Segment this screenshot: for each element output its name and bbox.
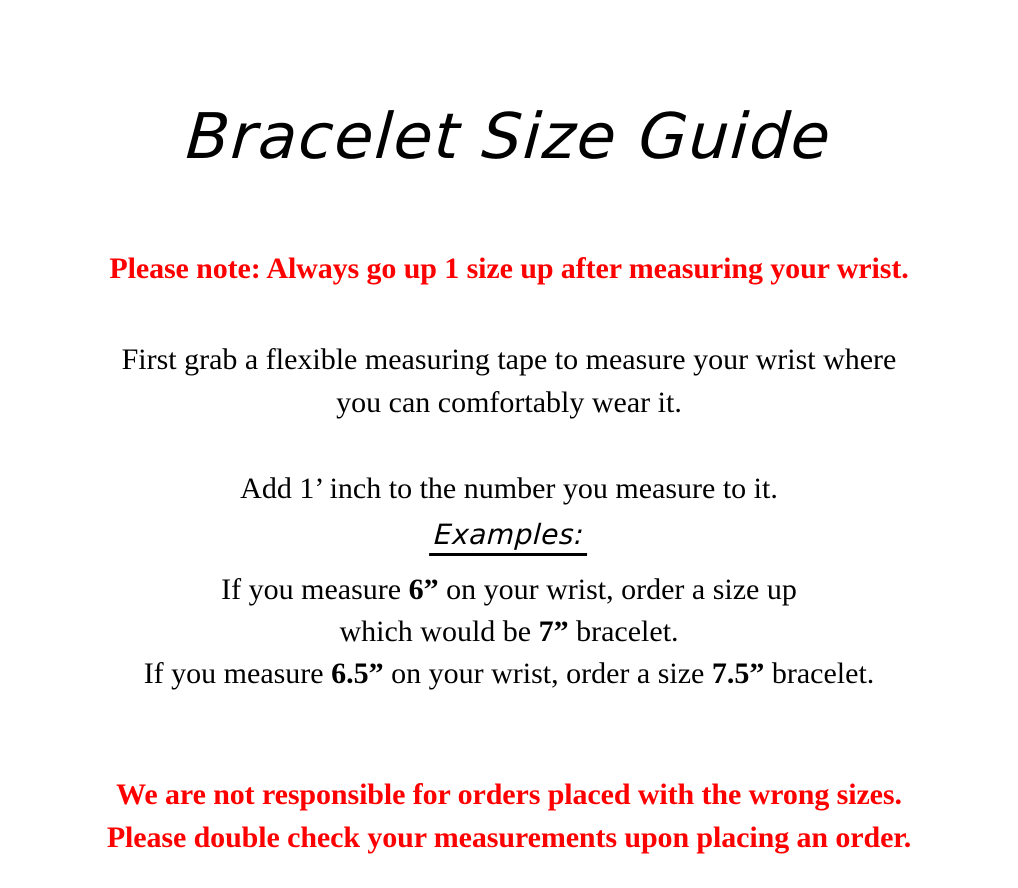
example-line-3-prefix: If you measure	[144, 657, 331, 690]
example-line-3: If you measure 6.5” on your wrist, order…	[0, 653, 1018, 695]
example-line-1-size: 6”	[409, 573, 439, 606]
example-line-3-middle: on your wrist, order a size	[384, 657, 712, 690]
example-line-1-suffix: on your wrist, order a size up	[439, 573, 797, 606]
example-line-2-prefix: which would be	[339, 615, 538, 648]
add-inch-instruction: Add 1’ inch to the number you measure to…	[0, 467, 1018, 510]
examples-heading-label: Examples:	[429, 518, 589, 556]
example-line-3-size-measured: 6.5”	[331, 657, 384, 690]
bracelet-size-guide-page: Bracelet Size Guide Please note: Always …	[0, 0, 1018, 888]
measuring-instructions-line-2: you can comfortably wear it.	[52, 381, 966, 424]
measuring-instructions: First grab a flexible measuring tape to …	[52, 338, 966, 424]
example-line-2: which would be 7” bracelet.	[0, 611, 1018, 653]
examples-list: If you measure 6” on your wrist, order a…	[0, 569, 1018, 695]
example-line-1: If you measure 6” on your wrist, order a…	[0, 569, 1018, 611]
example-line-3-size-ordered: 7.5”	[712, 657, 765, 690]
example-line-2-size: 7”	[539, 615, 569, 648]
example-line-1-prefix: If you measure	[221, 573, 408, 606]
page-title: Bracelet Size Guide	[0, 104, 1018, 170]
examples-heading: Examples:	[0, 518, 1018, 556]
liability-warning: We are not responsible for orders placed…	[0, 773, 1018, 859]
liability-warning-line-1: We are not responsible for orders placed…	[0, 773, 1018, 816]
measuring-instructions-line-1: First grab a flexible measuring tape to …	[52, 338, 966, 381]
liability-warning-line-2: Please double check your measurements up…	[0, 816, 1018, 859]
important-note: Please note: Always go up 1 size up afte…	[0, 251, 1018, 286]
example-line-2-suffix: bracelet.	[569, 615, 679, 648]
example-line-3-suffix: bracelet.	[764, 657, 874, 690]
